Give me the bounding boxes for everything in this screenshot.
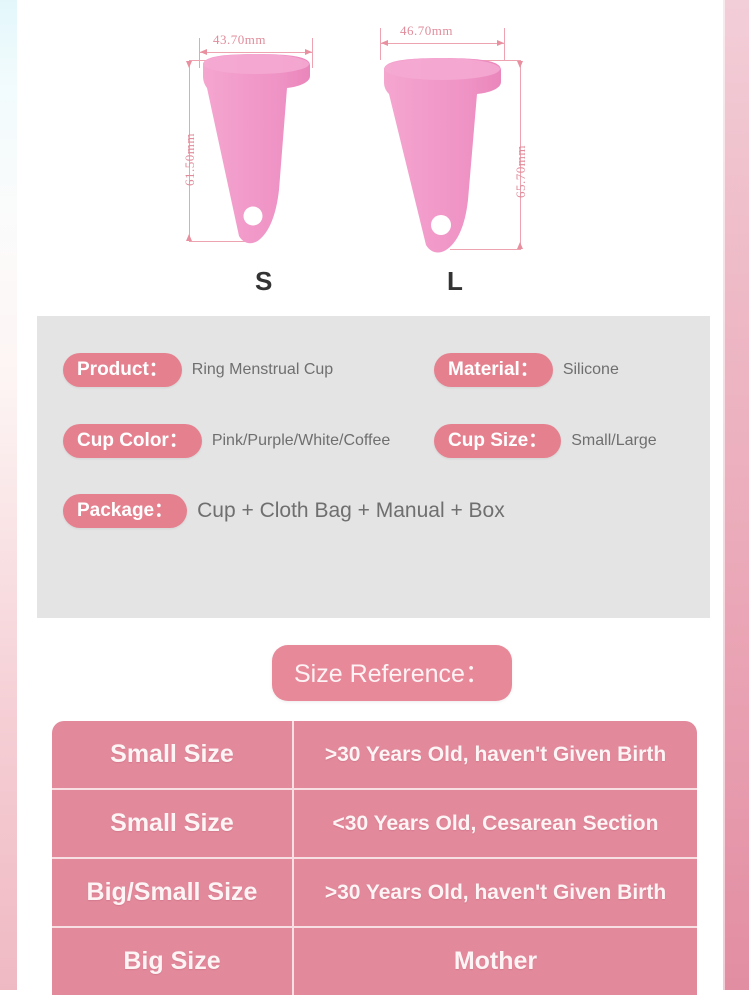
size-cell: Big Size xyxy=(52,928,294,995)
cup-color-label-pill: Cup Color： xyxy=(63,424,202,458)
cup-size-diagram: 43.70mm 61.50mm xyxy=(17,0,723,312)
table-row: Small Size <30 Years Old, Cesarean Secti… xyxy=(52,790,697,859)
specifications-panel: Product： Ring Menstrual Cup Material： Si… xyxy=(37,316,710,618)
spec-row-cup-color: Cup Color： Pink/Purple/White/Coffee xyxy=(63,424,390,458)
product-label-pill: Product： xyxy=(63,353,182,387)
spec-row-material: Material： Silicone xyxy=(434,353,619,387)
size-reference-table: Small Size >30 Years Old, haven't Given … xyxy=(52,721,697,995)
package-label-pill: Package： xyxy=(63,494,187,528)
cup-size-value: Small/Large xyxy=(571,432,656,450)
description-cell: <30 Years Old, Cesarean Section xyxy=(294,790,697,857)
right-edge-gradient-strip xyxy=(723,0,749,990)
product-infographic-page: 43.70mm 61.50mm xyxy=(0,0,749,990)
material-label-pill: Material： xyxy=(434,353,553,387)
small-cup-shape xyxy=(177,0,337,250)
spec-row-product: Product： Ring Menstrual Cup xyxy=(63,353,333,387)
table-row: Small Size >30 Years Old, haven't Given … xyxy=(52,721,697,790)
description-cell: >30 Years Old, haven't Given Birth xyxy=(294,859,697,926)
product-value: Ring Menstrual Cup xyxy=(192,361,333,379)
size-cell: Small Size xyxy=(52,790,294,857)
small-size-letter: S xyxy=(255,266,273,297)
cup-color-value: Pink/Purple/White/Coffee xyxy=(212,432,390,450)
description-cell: Mother xyxy=(294,928,697,995)
large-cup-diagram: 46.70mm 65.70mm xyxy=(362,0,537,312)
description-cell: >30 Years Old, haven't Given Birth xyxy=(294,721,697,788)
small-cup-diagram: 43.70mm 61.50mm xyxy=(177,0,337,312)
large-cup-shape xyxy=(362,0,537,255)
spec-row-cup-size: Cup Size： Small/Large xyxy=(434,424,657,458)
table-row: Big/Small Size >30 Years Old, haven't Gi… xyxy=(52,859,697,928)
material-value: Silicone xyxy=(563,361,619,379)
size-cell: Small Size xyxy=(52,721,294,788)
table-row: Big Size Mother xyxy=(52,928,697,995)
size-reference-heading: Size Reference： xyxy=(272,645,512,701)
size-cell: Big/Small Size xyxy=(52,859,294,926)
spec-row-package: Package： Cup + Cloth Bag + Manual + Box xyxy=(63,494,505,528)
left-edge-gradient-strip xyxy=(0,0,17,990)
cup-size-label-pill: Cup Size： xyxy=(434,424,561,458)
large-size-letter: L xyxy=(447,266,463,297)
package-value: Cup + Cloth Bag + Manual + Box xyxy=(197,499,505,523)
